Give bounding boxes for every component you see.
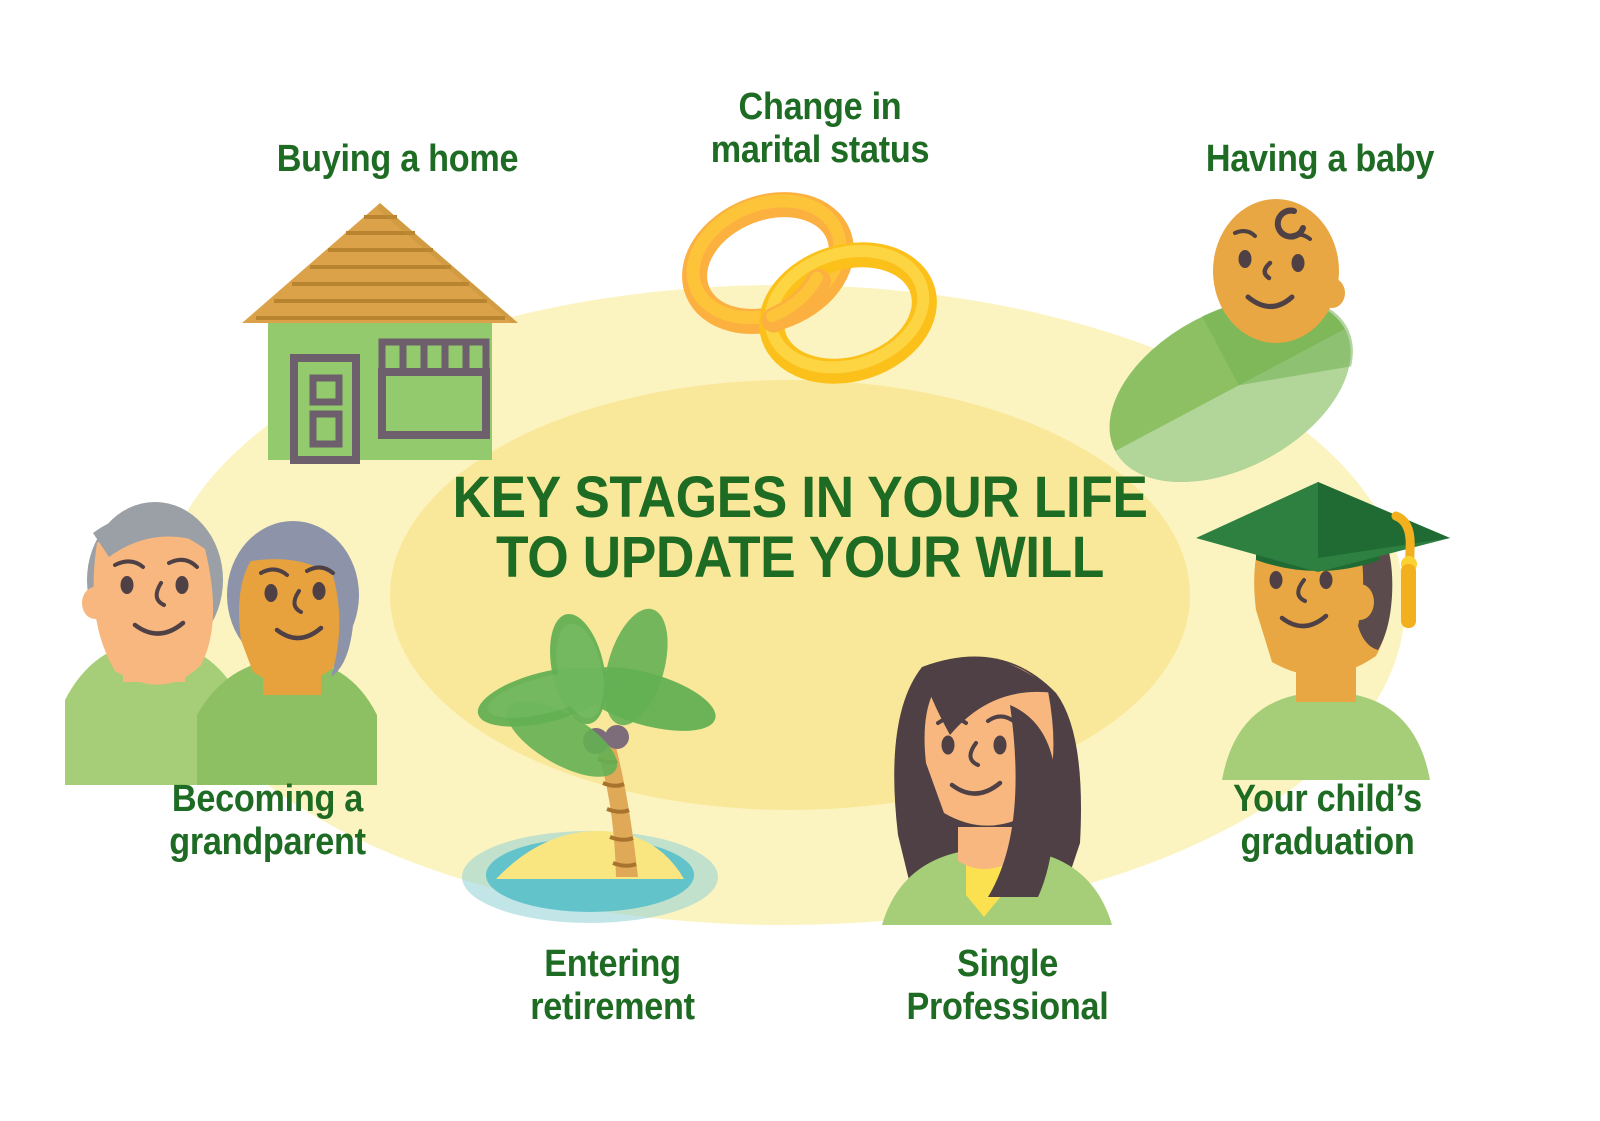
stage-label-buying-a-home: Buying a home bbox=[161, 138, 634, 181]
stage-label-becoming-a-grandparent: Becoming a grandparent bbox=[22, 778, 513, 863]
stage-label-single-professional: Single Professional bbox=[762, 943, 1253, 1028]
stage-label-your-childs-graduation: Your child’s graduation bbox=[1082, 778, 1573, 863]
stage-label-having-a-baby: Having a baby bbox=[1068, 138, 1572, 181]
swaddled-baby-icon bbox=[1080, 185, 1390, 475]
page-title: KEY STAGES IN YOUR LIFE TO UPDATE YOUR W… bbox=[340, 468, 1260, 589]
wedding-rings-icon bbox=[680, 195, 950, 395]
page-title-line-2: TO UPDATE YOUR WILL bbox=[340, 528, 1260, 588]
stage-label-change-in-marital-status: Change in marital status bbox=[595, 86, 1045, 171]
infographic-poster: KEY STAGES IN YOUR LIFE TO UPDATE YOUR W… bbox=[0, 0, 1600, 1121]
page-title-line-1: KEY STAGES IN YOUR LIFE bbox=[340, 468, 1260, 528]
palm-island-icon bbox=[450, 625, 750, 925]
house-icon bbox=[240, 195, 520, 460]
